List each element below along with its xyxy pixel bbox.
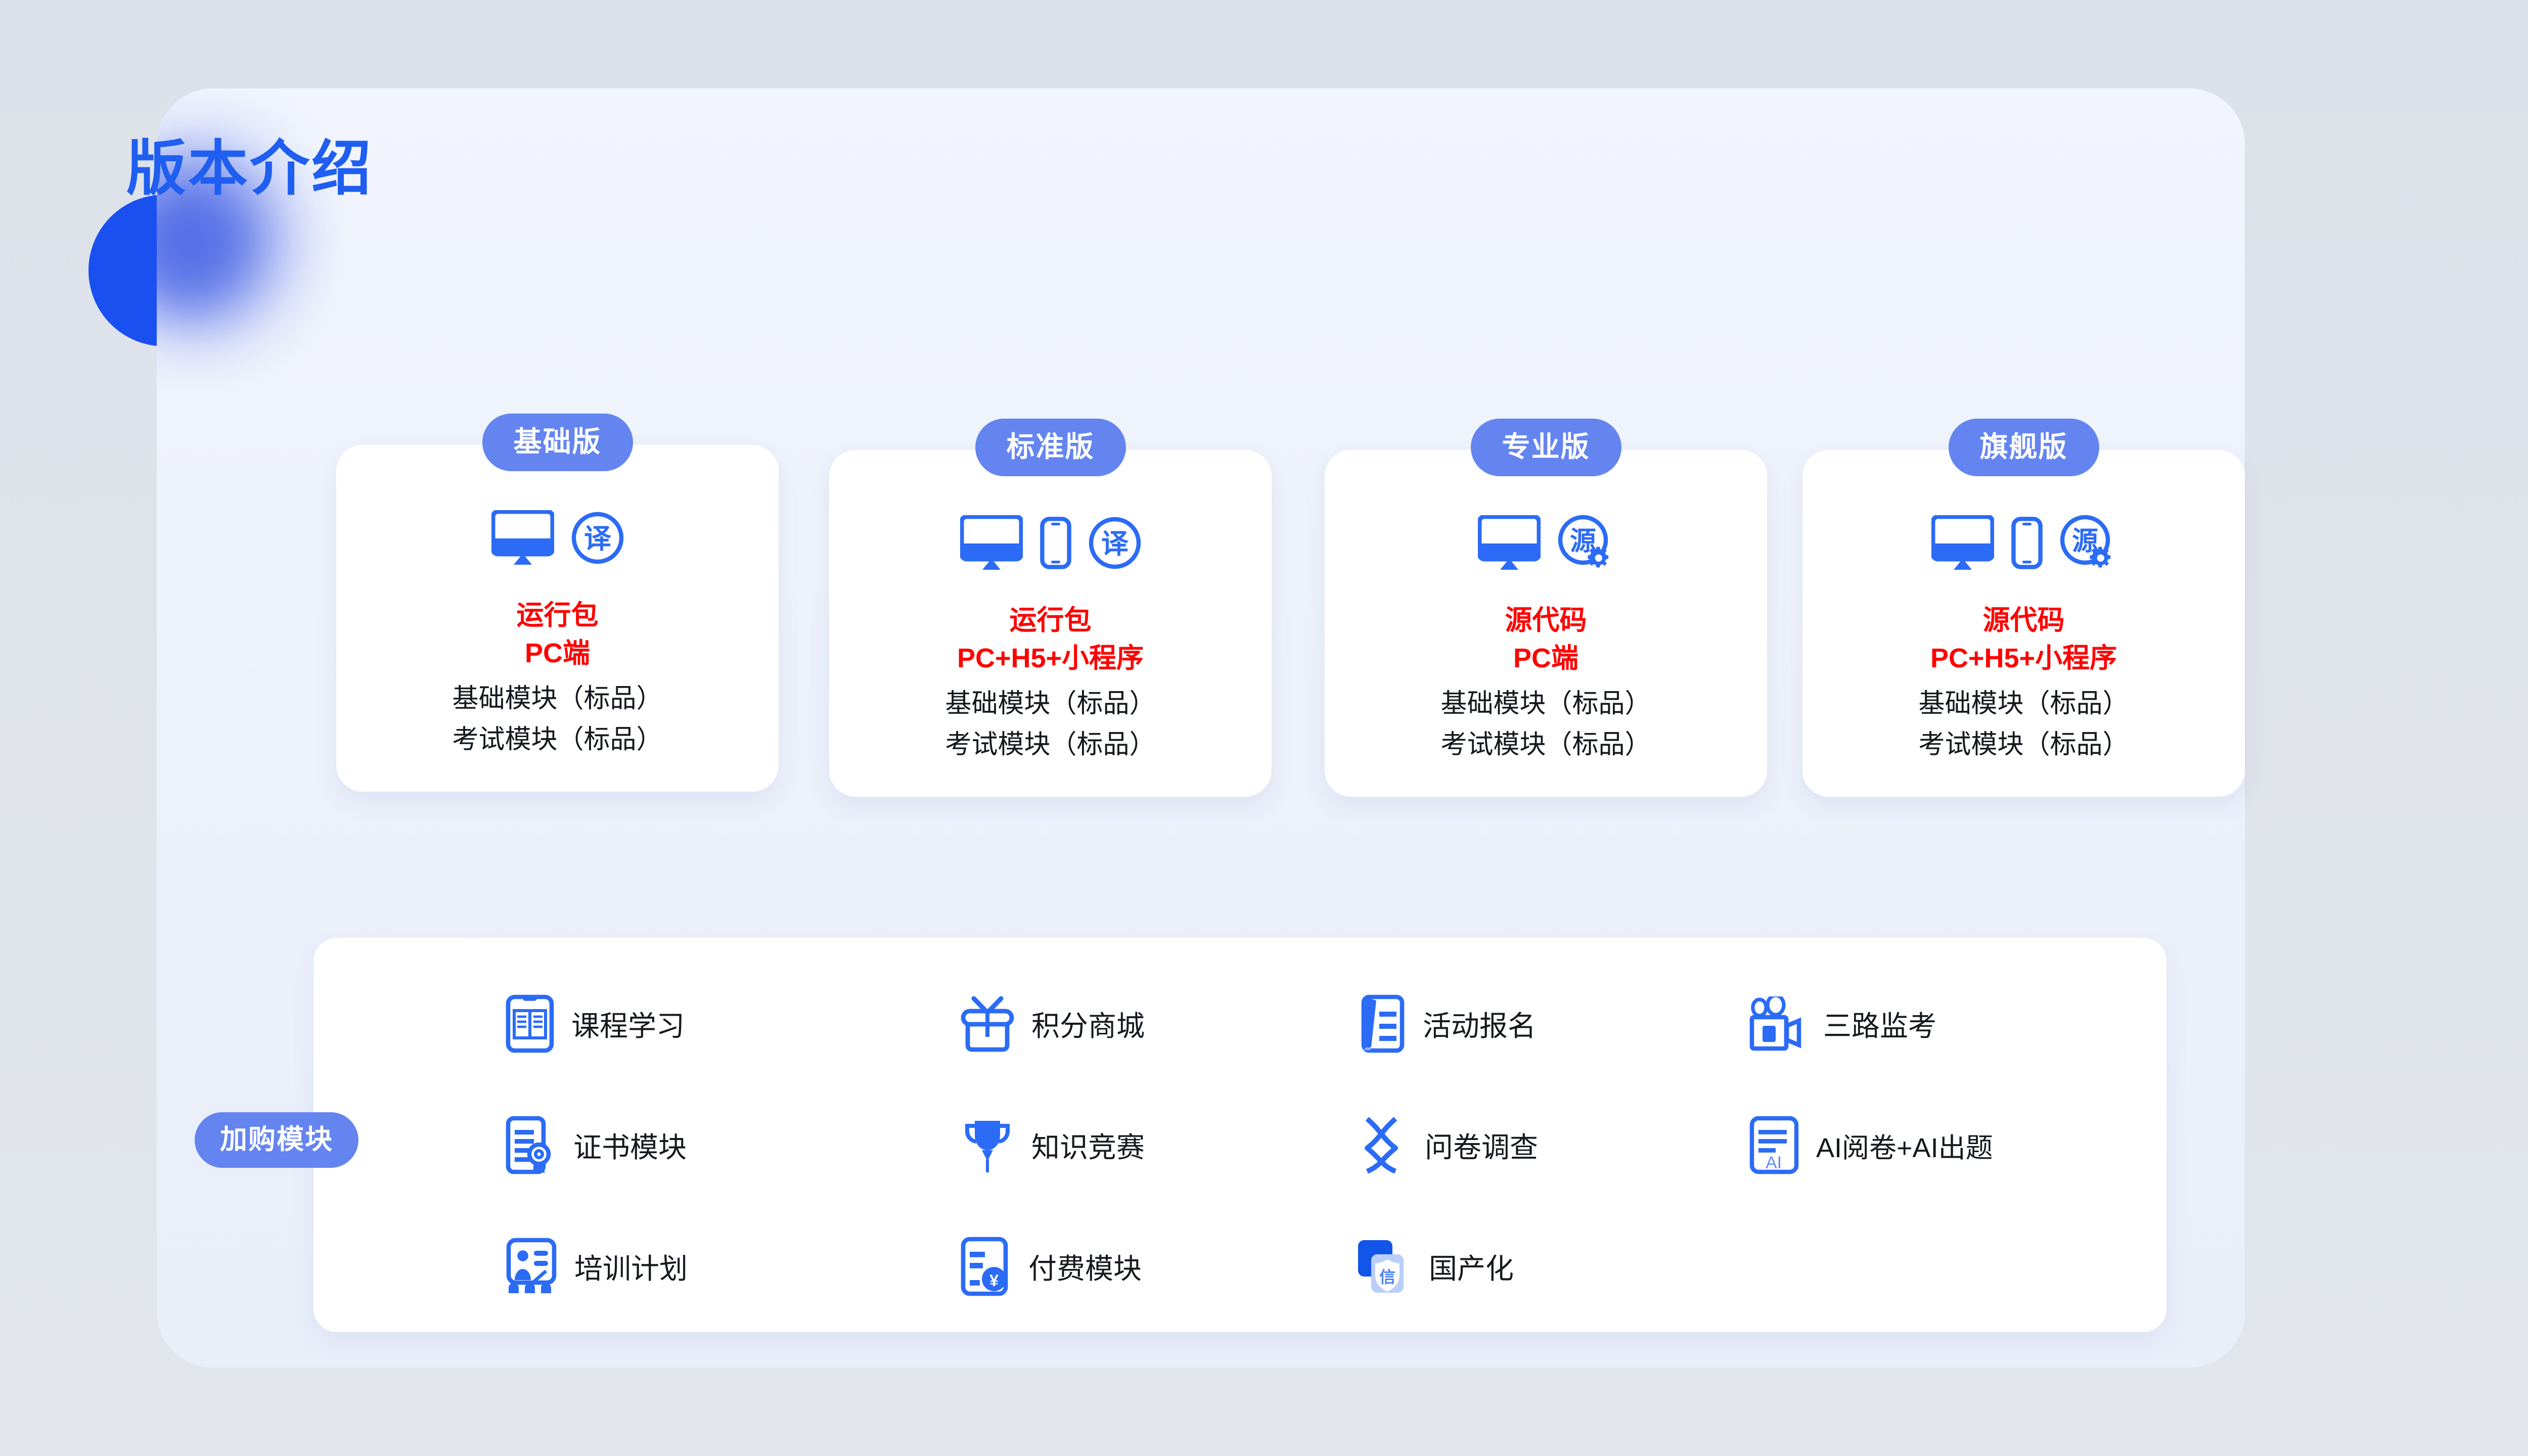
version-icons-flagship: 源: [1931, 510, 2116, 576]
gift-icon: [961, 995, 1014, 1052]
translate-circle-icon: 译: [1089, 517, 1141, 569]
addon-label: 三路监考: [1823, 1004, 1936, 1044]
trophy-icon: [961, 1117, 1014, 1173]
version-card-professional[interactable]: 专业版 源: [1325, 450, 1767, 797]
svg-text:¥: ¥: [989, 1271, 999, 1290]
version-badge-basic: 基础版: [482, 414, 633, 471]
version-badge-professional: 专业版: [1471, 419, 1621, 476]
addon-label: 培训计划: [574, 1246, 688, 1287]
source-gear-circle-icon: 源: [2060, 515, 2116, 571]
addon-item-questionnaire-survey[interactable]: 问卷调查: [1355, 1116, 1749, 1174]
addon-label: AI阅卷+AI出题: [1816, 1125, 1993, 1165]
module-line: 基础模块（标品）: [945, 684, 1155, 725]
addon-item-certificate-module[interactable]: 证书模块: [506, 1116, 961, 1174]
monitor-icon: [1931, 515, 1994, 571]
version-icons-standard: 译: [960, 510, 1141, 576]
svg-text:译: 译: [584, 524, 612, 554]
addon-section-badge: 加购模块: [195, 1112, 358, 1168]
module-line: 基础模块（标品）: [1440, 684, 1651, 725]
svg-text:译: 译: [1101, 529, 1129, 559]
addon-label: 问卷调查: [1425, 1125, 1538, 1166]
pen-form-icon: [1355, 994, 1406, 1053]
phone-icon: [2011, 517, 2043, 569]
package-label-professional: 源代码: [1505, 602, 1587, 640]
addon-label: 证书模块: [573, 1125, 687, 1166]
source-gear-circle-icon: 源: [1558, 515, 1614, 571]
addon-item-localization[interactable]: 信 国产化: [1355, 1237, 1749, 1296]
module-line: 考试模块（标品）: [452, 720, 662, 761]
version-card-basic[interactable]: 基础版 译: [336, 445, 779, 792]
payment-yuan-icon: ¥: [961, 1237, 1011, 1296]
svg-text:信: 信: [1379, 1268, 1395, 1286]
package-label-flagship: 源代码: [1983, 602, 2065, 640]
version-card-flagship[interactable]: 旗舰版: [1802, 450, 2245, 797]
module-line: 考试模块（标品）: [945, 725, 1155, 766]
certificate-icon: [506, 1116, 556, 1174]
addon-label: 课程学习: [571, 1004, 685, 1044]
page-title: 版本介绍: [126, 139, 373, 199]
module-line: 基础模块（标品）: [1918, 684, 2129, 725]
monitor-icon: [960, 515, 1023, 571]
package-label-standard: 运行包: [1010, 602, 1092, 640]
addon-label: 积分商城: [1031, 1004, 1145, 1044]
shield-xin-icon: 信: [1355, 1237, 1412, 1296]
platform-label-standard: PC+H5+小程序: [957, 640, 1144, 677]
phone-book-icon: [506, 994, 554, 1053]
svg-text:AI: AI: [1766, 1153, 1782, 1172]
platform-label-basic: PC端: [525, 634, 590, 672]
training-people-icon: [506, 1238, 557, 1295]
monitor-icon: [1478, 515, 1541, 571]
module-line: 考试模块（标品）: [1440, 725, 1651, 766]
module-line: 考试模块（标品）: [1918, 725, 2129, 766]
addon-item-three-channel-proctoring[interactable]: 三路监考: [1749, 996, 2149, 1051]
addon-label: 知识竞赛: [1031, 1125, 1145, 1166]
addon-item-points-mall[interactable]: 积分商城: [961, 995, 1355, 1052]
ai-document-icon: AI: [1749, 1116, 1799, 1174]
version-card-standard[interactable]: 标准版: [829, 450, 1272, 797]
phone-icon: [1040, 517, 1071, 569]
addon-label: 活动报名: [1423, 1004, 1536, 1044]
addon-item-payment-module[interactable]: ¥ 付费模块: [961, 1237, 1355, 1296]
video-camera-icon: [1749, 996, 1806, 1051]
version-icons-professional: 源: [1478, 510, 1614, 576]
addon-item-ai-grading-generation[interactable]: AI AI阅卷+AI出题: [1749, 1116, 2149, 1174]
translate-circle-icon: 译: [571, 512, 624, 564]
monitor-icon: [491, 510, 554, 566]
version-badge-standard: 标准版: [975, 419, 1126, 476]
addon-item-knowledge-contest[interactable]: 知识竞赛: [961, 1117, 1355, 1173]
addon-label: 付费模块: [1028, 1246, 1142, 1287]
addon-item-training-plan[interactable]: 培训计划: [506, 1238, 961, 1295]
addon-item-event-signup[interactable]: 活动报名: [1355, 994, 1749, 1053]
version-badge-flagship: 旗舰版: [1949, 419, 2099, 476]
package-label-basic: 运行包: [517, 597, 599, 634]
slide-root: 版本介绍 基础版 译: [0, 0, 2528, 1456]
platform-label-professional: PC端: [1513, 640, 1578, 677]
version-icons-basic: 译: [491, 505, 624, 571]
addon-label: 国产化: [1429, 1246, 1514, 1287]
survey-ribbon-icon: [1355, 1116, 1408, 1174]
module-line: 基础模块（标品）: [452, 679, 662, 720]
platform-label-flagship: PC+H5+小程序: [1930, 640, 2117, 677]
addon-modules-grid: 课程学习 积分商城: [506, 963, 2149, 1327]
addon-item-course-learning[interactable]: 课程学习: [506, 994, 961, 1053]
